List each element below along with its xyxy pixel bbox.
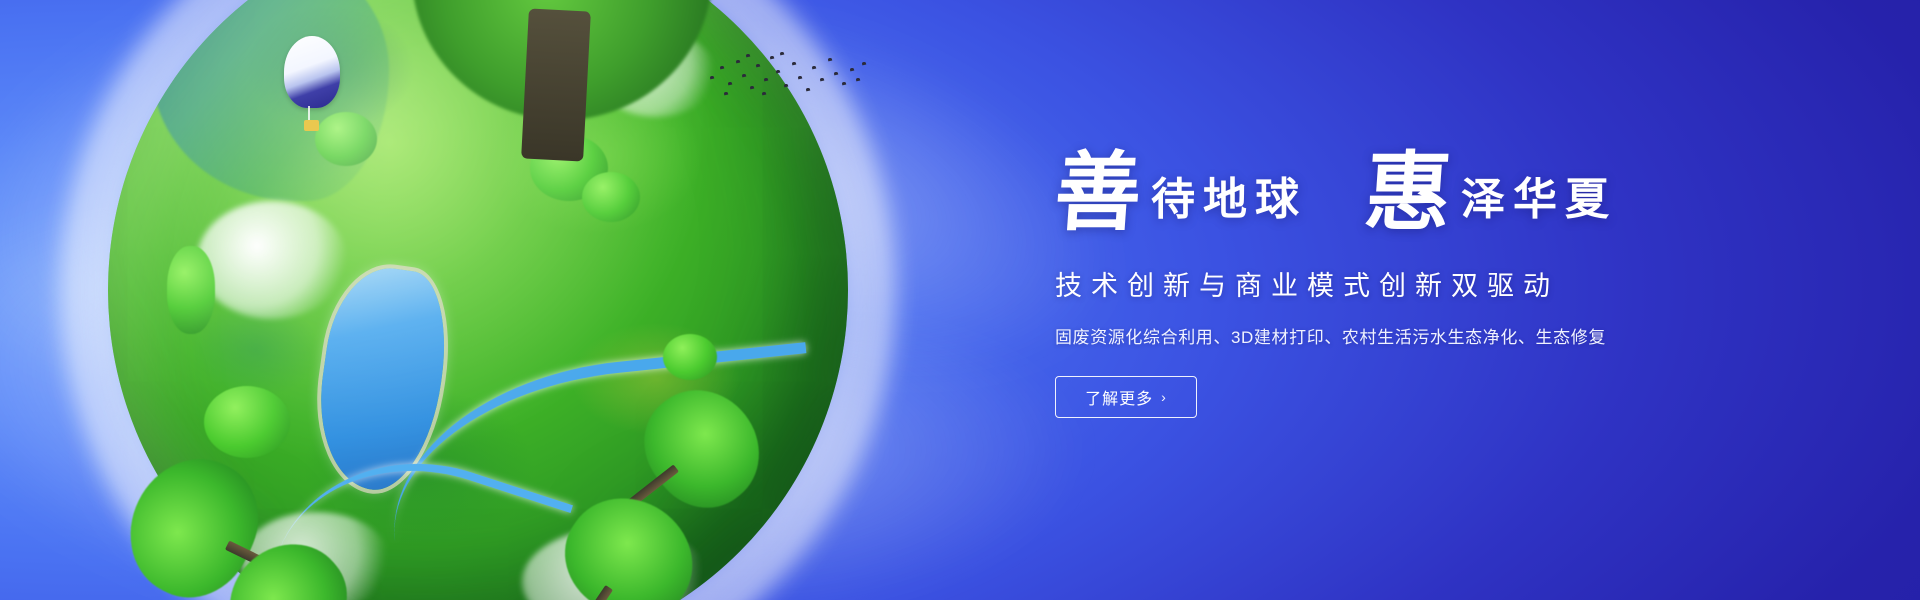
tree-trunk bbox=[521, 8, 591, 161]
hot-air-balloon-icon bbox=[284, 36, 340, 136]
headline-char-primary: 善 bbox=[1052, 150, 1144, 236]
hero-copy: 善 待地球 惠 泽华夏 技术创新与商业模式创新双驱动 固废资源化综合利用、3D建… bbox=[1055, 150, 1835, 418]
subtitle: 技术创新与商业模式创新双驱动 bbox=[1055, 264, 1835, 303]
hero-banner: 善 待地球 惠 泽华夏 技术创新与商业模式创新双驱动 固废资源化综合利用、3D建… bbox=[0, 0, 1920, 600]
page-title: 善 待地球 惠 泽华夏 bbox=[1055, 150, 1835, 236]
lake-icon bbox=[308, 261, 456, 497]
bird-flock-icon bbox=[706, 48, 866, 100]
chevron-right-icon: › bbox=[1161, 390, 1167, 404]
tree-cluster-icon bbox=[582, 172, 640, 222]
cloud-icon bbox=[197, 201, 347, 319]
balloon-envelope bbox=[284, 36, 340, 108]
tree-cluster-icon bbox=[204, 386, 290, 458]
tree-cluster-icon bbox=[167, 246, 215, 334]
headline-text-primary: 待地球 bbox=[1151, 178, 1307, 236]
description-text: 固废资源化综合利用、3D建材打印、农村生活污水生态净化、生态修复 bbox=[1055, 323, 1835, 348]
headline-text-secondary: 泽华夏 bbox=[1461, 178, 1617, 236]
headline-char-secondary: 惠 bbox=[1362, 150, 1454, 236]
balloon-basket bbox=[304, 120, 319, 131]
learn-more-button[interactable]: 了解更多 › bbox=[1055, 376, 1197, 418]
learn-more-label: 了解更多 bbox=[1085, 385, 1153, 409]
mountain-range-icon bbox=[152, 0, 389, 201]
tree-icon bbox=[412, 0, 712, 120]
